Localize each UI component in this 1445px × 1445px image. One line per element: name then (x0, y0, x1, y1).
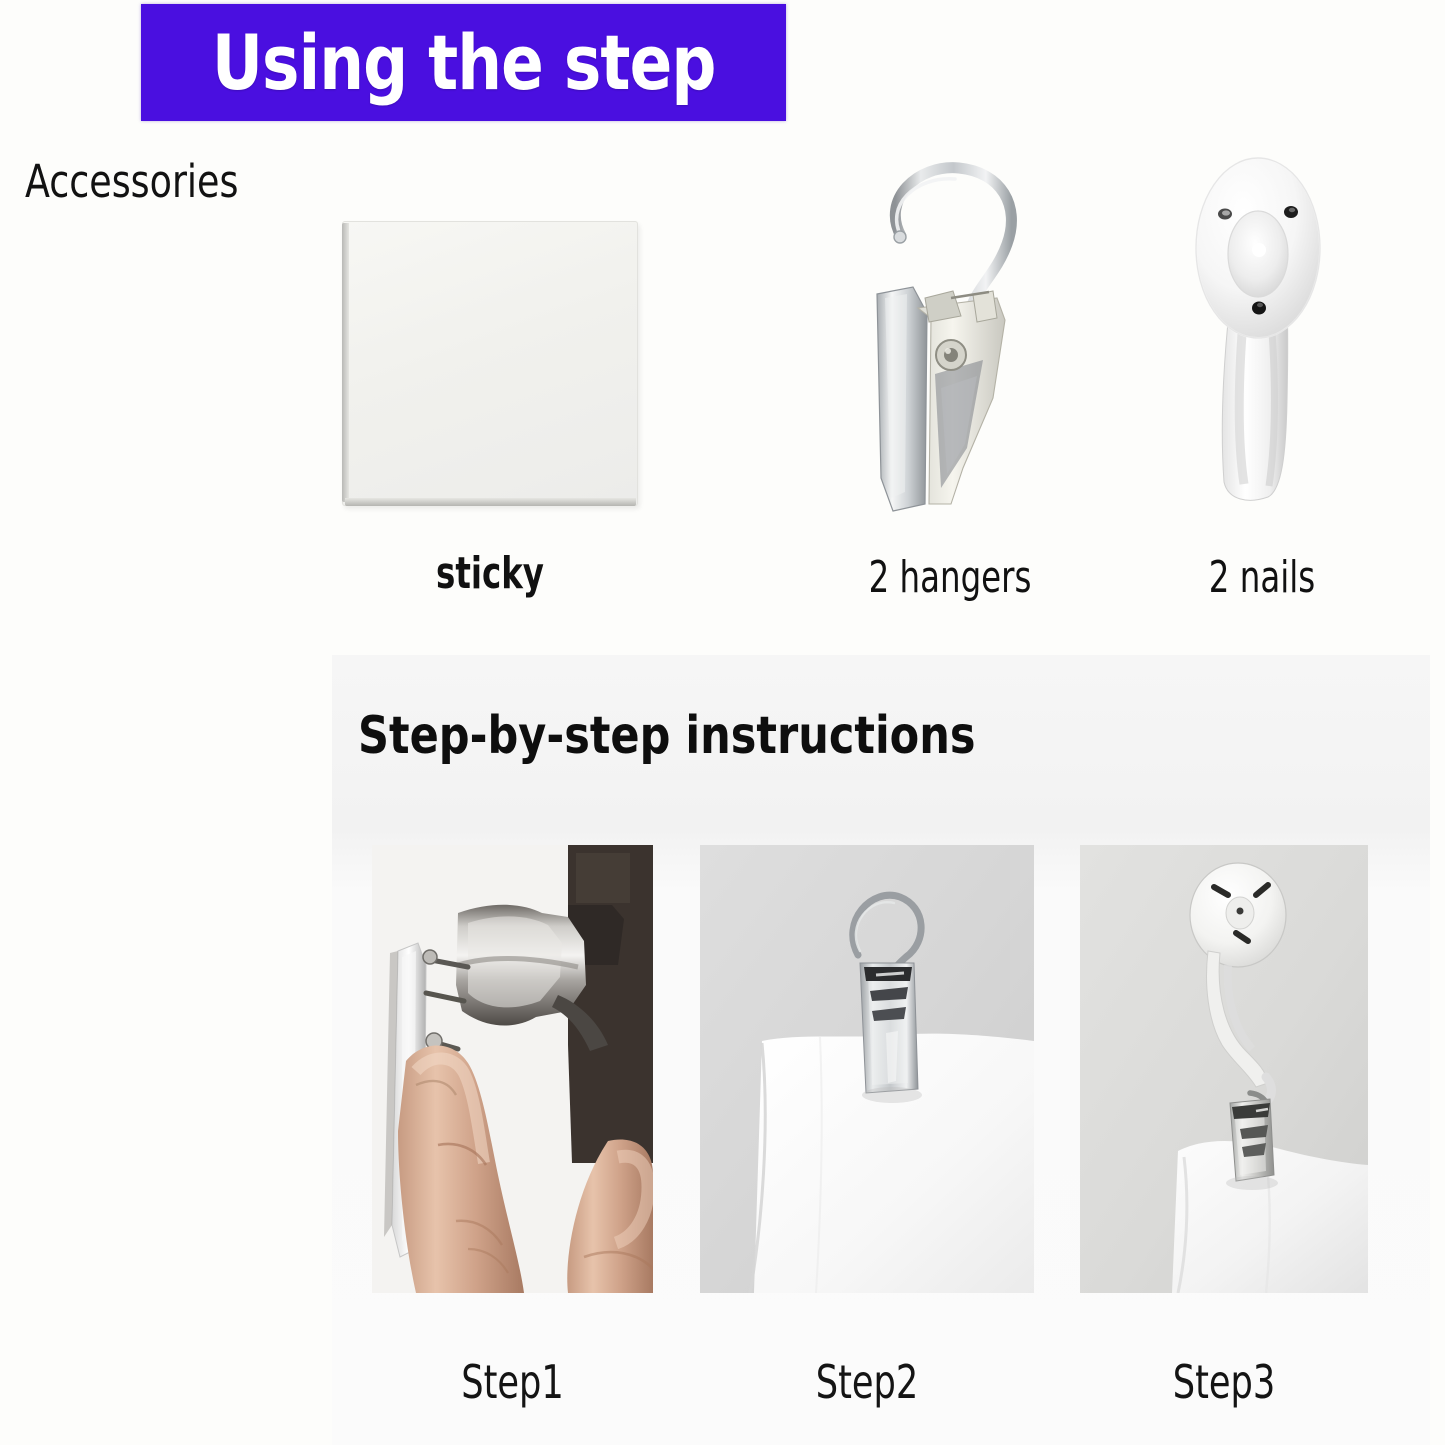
hammering-nail-photo (372, 845, 653, 1293)
accessory-label-hangers: 2 hangers (868, 552, 1032, 603)
accessory-label-nails: 2 nails (1188, 552, 1336, 603)
step-caption-2: Step2 (725, 1355, 1009, 1409)
accessory-label-sticky: sticky (369, 548, 612, 599)
step-caption-1: Step1 (393, 1355, 632, 1409)
step-caption-3: Step3 (1102, 1355, 1347, 1409)
accessories-row: sticky (0, 0, 1445, 620)
clip-holding-sheet-photo (700, 845, 1034, 1293)
mounted-hook-with-clip-photo (1080, 845, 1368, 1293)
infographic-page: Using the step Accessories sticky (0, 0, 1445, 1445)
wall-hook-icon (1190, 152, 1330, 512)
adhesive-pad-icon (342, 221, 638, 506)
hook-clip-icon (855, 148, 1045, 513)
instructions-heading: Step-by-step instructions (358, 706, 976, 766)
